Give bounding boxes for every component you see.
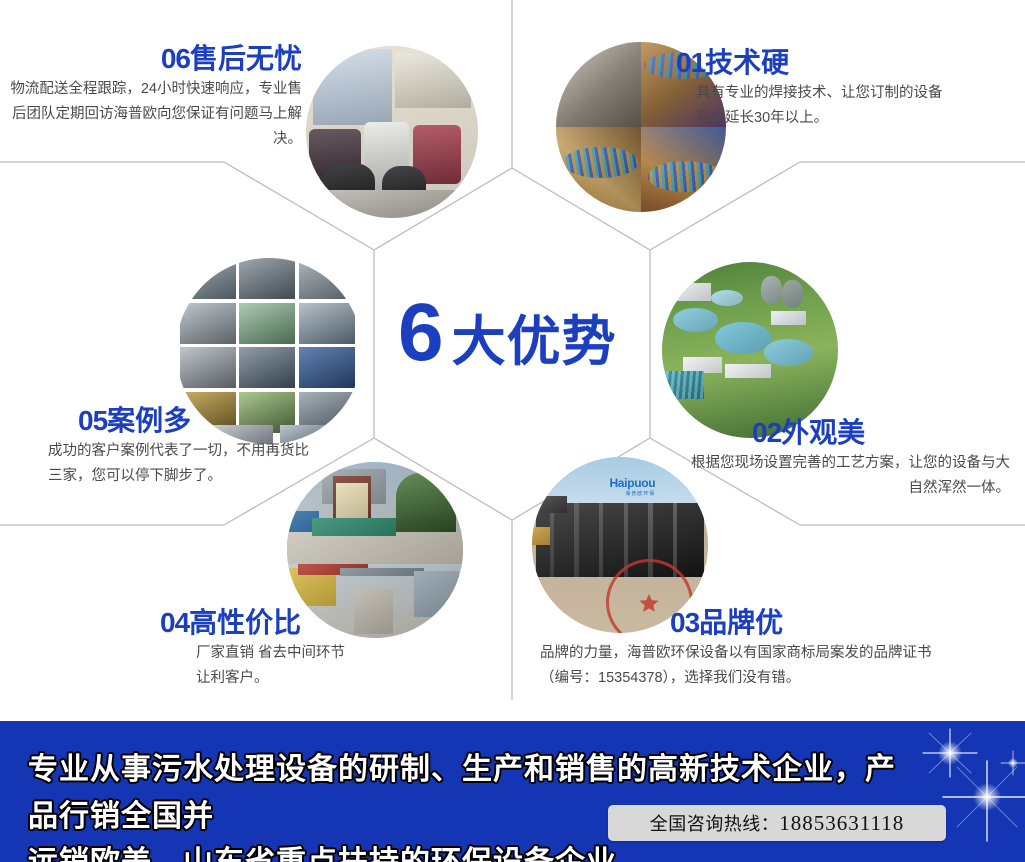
banner-line-2: 远销欧美，山东省重点扶持的环保设备企业。 xyxy=(28,846,648,862)
hotline-box[interactable]: 全国咨询热线：18853631118 xyxy=(608,805,946,841)
office-staff-photo xyxy=(306,46,478,218)
feature-heading-05: 05案例多 xyxy=(48,406,320,435)
feature-body-06: 物流配送全程跟踪，24小时快速响应，专业售后团队定期回访海普欧向您保证有问题马上… xyxy=(10,77,302,152)
feature-number-06: 06 xyxy=(161,43,190,74)
center-text: 大优势 xyxy=(452,315,617,369)
feature-block-03: 03品牌优 品牌的力量，海普欧环保设备以有国家商标局案发的品牌证书（编号：153… xyxy=(540,608,940,691)
feature-number-02: 02 xyxy=(752,417,781,448)
hotline-number: 18853631118 xyxy=(779,811,904,835)
brand-watermark: Haipuou xyxy=(609,476,655,490)
wastewater-plant-aerial-photo xyxy=(662,262,838,438)
infographic-root: 6 大优势 xyxy=(0,0,1025,862)
feature-heading-03: 03品牌优 xyxy=(540,608,940,637)
feature-block-02: 02外观美 根据您现场设置完善的工艺方案，让您的设备与大自然浑然一体。 xyxy=(680,418,1010,501)
feature-number-04: 04 xyxy=(160,607,189,638)
feature-body-03: 品牌的力量，海普欧环保设备以有国家商标局案发的品牌证书（编号：15354378）… xyxy=(540,641,940,691)
feature-block-01: 01技术硬 具有专业的焊接技术、让您订制的设备寿命延长30年以上。 xyxy=(676,48,946,131)
feature-heading-06: 06售后无忧 xyxy=(10,44,302,73)
feature-number-01: 01 xyxy=(676,47,705,78)
feature-heading-02: 02外观美 xyxy=(680,418,1010,447)
feature-title-06: 售后无忧 xyxy=(190,43,302,74)
feature-heading-04: 04高性价比 xyxy=(160,608,460,637)
feature-title-03: 品牌优 xyxy=(699,607,783,638)
feature-body-05: 成功的客户案例代表了一切，不用再货比三家，您可以停下脚步了。 xyxy=(48,439,320,489)
feature-body-01: 具有专业的焊接技术、让您订制的设备寿命延长30年以上。 xyxy=(676,81,946,131)
hotline-label: 全国咨询热线： xyxy=(650,814,780,834)
center-number: 6 xyxy=(398,292,442,374)
feature-title-02: 外观美 xyxy=(781,417,865,448)
feature-block-05: 05案例多 成功的客户案例代表了一切，不用再货比三家，您可以停下脚步了。 xyxy=(48,406,320,489)
center-headline: 6 大优势 xyxy=(398,292,617,374)
feature-body-02: 根据您现场设置完善的工艺方案，让您的设备与大自然浑然一体。 xyxy=(680,451,1010,501)
feature-number-05: 05 xyxy=(78,405,107,436)
feature-title-04: 高性价比 xyxy=(189,607,301,638)
hotline-text: 全国咨询热线：18853631118 xyxy=(650,810,904,836)
feature-title-01: 技术硬 xyxy=(705,47,789,78)
feature-body-04: 厂家直销 省去中间环节 让利客户。 xyxy=(160,641,460,691)
feature-heading-01: 01技术硬 xyxy=(676,48,946,77)
feature-block-04: 04高性价比 厂家直销 省去中间环节 让利客户。 xyxy=(160,608,460,691)
feature-title-05: 案例多 xyxy=(107,405,191,436)
brand-watermark-sub: 海普欧环保 xyxy=(625,490,655,497)
feature-block-06: 06售后无忧 物流配送全程跟踪，24小时快速响应，专业售后团队定期回访海普欧向您… xyxy=(10,44,302,152)
feature-number-03: 03 xyxy=(670,607,699,638)
